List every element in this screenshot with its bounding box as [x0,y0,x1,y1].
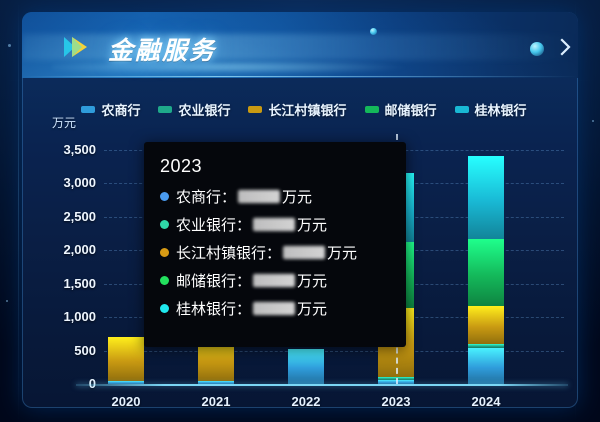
tooltip-series-name: 邮储银行： [176,270,251,291]
bar-segment-2024-3[interactable] [468,239,504,307]
bg-spark [592,120,594,122]
legend-swatch-icon [455,106,469,113]
tooltip-row-text: 农业银行：万元 [176,214,327,235]
tooltip-row-text: 长江村镇银行：万元 [176,242,357,263]
bar-group-2024[interactable] [468,150,504,384]
legend-item-0[interactable]: 农商行 [81,100,140,119]
y-axis-tick-label: 3,000 [34,175,96,190]
bg-spark [6,300,8,302]
tooltip-series-value [238,190,280,203]
financial-services-panel: 金融服务 农商行农业银行长江村镇银行邮储银行桂林银行 万元 05001,0001… [22,12,578,408]
bar-segment-2024-0[interactable] [468,348,504,384]
tooltip-series-dot-icon [160,192,169,201]
legend-item-2[interactable]: 长江村镇银行 [248,100,346,119]
banner-orb [530,42,544,56]
tooltip-row-text: 桂林银行：万元 [176,298,327,319]
x-axis-label-2023: 2023 [361,394,431,408]
tooltip-row-0: 农商行：万元 [160,186,394,207]
tooltip-series-value [253,302,295,315]
tooltip-series-name: 桂林银行： [176,298,251,319]
tooltip-series-name: 农业银行： [176,214,251,235]
banner-orb [370,28,377,35]
legend-item-4[interactable]: 桂林银行 [455,100,527,119]
tooltip-series-name: 农商行： [176,186,236,207]
legend-item-label: 桂林银行 [475,100,527,119]
y-axis-tick-label: 2,500 [34,209,96,224]
tooltip-series-unit: 万元 [297,298,327,319]
tooltip-series-unit: 万元 [297,214,327,235]
legend-swatch-icon [81,106,95,113]
tooltip-series-unit: 万元 [327,242,357,263]
tooltip-series-value [283,246,325,259]
y-axis-tick-label: 1,500 [34,276,96,291]
tooltip-series-dot-icon [160,276,169,285]
tooltip-row-4: 桂林银行：万元 [160,298,394,319]
tooltip-series-dot-icon [160,304,169,313]
tooltip-row-2: 长江村镇银行：万元 [160,242,394,263]
bar-segment-2022-0[interactable] [288,349,324,384]
bar-group-2020[interactable] [108,150,144,384]
chevron-right-icon[interactable] [558,38,574,56]
y-axis-tick-label: 1,000 [34,309,96,324]
tooltip-row-1: 农业银行：万元 [160,214,394,235]
tooltip-title: 2023 [160,156,394,177]
legend-item-label: 农业银行 [178,100,230,119]
tooltip-row-text: 邮储银行：万元 [176,270,327,291]
tooltip-series-value [253,218,295,231]
x-axis-label-2022: 2022 [271,394,341,408]
bg-spark [8,44,11,47]
tooltip-series-dot-icon [160,220,169,229]
tooltip-rows: 农商行：万元农业银行：万元长江村镇银行：万元邮储银行：万元桂林银行：万元 [160,186,394,319]
x-axis-label-2020: 2020 [91,394,161,408]
legend-item-3[interactable]: 邮储银行 [365,100,437,119]
chart-legend: 农商行农业银行长江村镇银行邮储银行桂林银行 [30,98,578,120]
y-axis-tick-label: 3,500 [34,142,96,157]
bar-segment-2020-2[interactable] [108,337,144,381]
legend-swatch-icon [365,106,379,113]
y-axis-tick-label: 500 [34,343,96,358]
bar-segment-2024-2[interactable] [468,306,504,343]
page-title: 金融服务 [108,31,216,67]
tooltip-series-unit: 万元 [297,270,327,291]
legend-swatch-icon [158,106,172,113]
tooltip-series-dot-icon [160,248,169,257]
tooltip-series-name: 长江村镇银行： [176,242,281,263]
tooltip-series-value [253,274,295,287]
tooltip-series-unit: 万元 [282,186,312,207]
bg-diagonal [18,0,19,422]
tooltip-row-text: 农商行：万元 [176,186,312,207]
y-axis-tick-label: 2,000 [34,242,96,257]
legend-item-label: 邮储银行 [385,100,437,119]
bar-segment-2024-1[interactable] [468,344,504,348]
chart-tooltip: 2023 农商行：万元农业银行：万元长江村镇银行：万元邮储银行：万元桂林银行：万… [144,142,406,347]
tooltip-row-3: 邮储银行：万元 [160,270,394,291]
double-chevron-right-icon [64,36,90,58]
panel-header-banner: 金融服务 [22,12,578,78]
app-background: 金融服务 农商行农业银行长江村镇银行邮储银行桂林银行 万元 05001,0001… [0,0,600,422]
banner-hairline [22,76,578,77]
bar-segment-2024-4[interactable] [468,156,504,239]
x-axis-label-2024: 2024 [451,394,521,408]
chart-baseline-axis [76,384,568,386]
legend-swatch-icon [248,106,262,113]
banner-sheen [22,34,578,60]
legend-item-label: 长江村镇银行 [268,100,346,119]
legend-item-label: 农商行 [101,100,140,119]
legend-item-1[interactable]: 农业银行 [158,100,230,119]
x-axis-label-2021: 2021 [181,394,251,408]
